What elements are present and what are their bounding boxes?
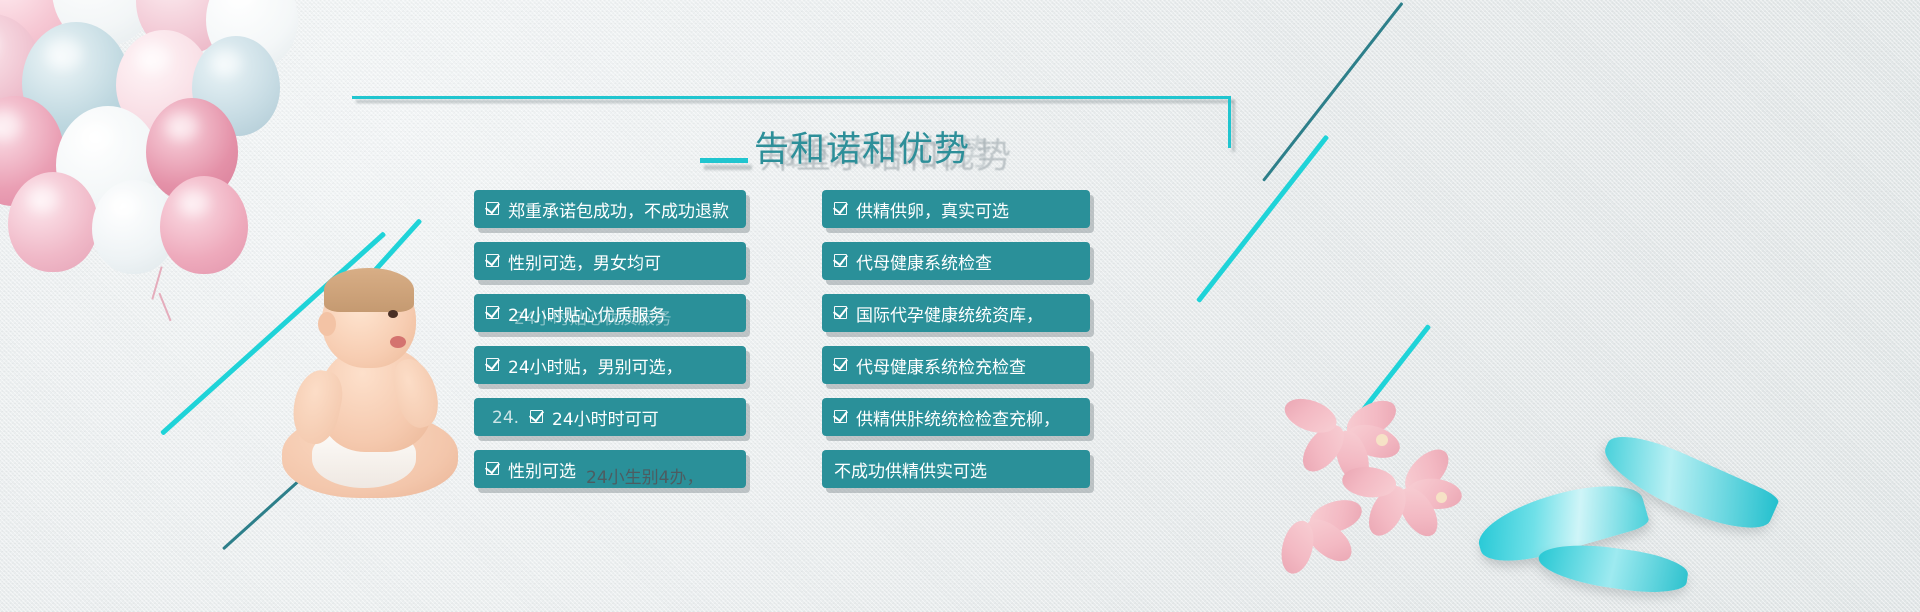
checkbox-checked-icon [834, 254, 849, 269]
banner-canvas: 郑重承诺和优势 诺和诺和优势 告和诺和优势 郑重承诺包成功，不成功退款 性别可选… [0, 0, 1920, 612]
benefit-label: 性别可选，男女均可 [508, 249, 661, 274]
benefits-column-right: 供精供卵，真实可选 代母健康系统检查 国际代孕健康统统资库， 代母健康系统检充检… [822, 190, 1090, 488]
benefit-label: 24小时时可可 [552, 405, 659, 430]
checkbox-checked-icon [486, 254, 501, 269]
benefit-item[interactable]: 24小时贴心优质服务 24小时贴心优质服务 [474, 294, 746, 332]
benefit-label: 国际代孕健康统统资库， [856, 301, 1043, 326]
benefit-label-ghost: 24. [492, 408, 519, 428]
benefit-label: 24小时贴心优质服务 [508, 301, 666, 326]
benefit-item[interactable]: 性别可选，男女均可 [474, 242, 746, 280]
benefit-item[interactable]: 性别可选 24小生别4办， [474, 450, 746, 488]
benefit-label: 供精供胩统统检检查充柳， [856, 405, 1060, 430]
checkbox-checked-icon [530, 410, 545, 425]
checkbox-checked-icon [486, 306, 501, 321]
benefit-label: 不成功供精供实可选 [834, 457, 987, 482]
benefit-item[interactable]: 24小时贴，男别可选， [474, 346, 746, 384]
benefit-label: 代母健康系统检充检查 [856, 353, 1026, 378]
benefit-item[interactable]: 代母健康系统检充检查 [822, 346, 1090, 384]
benefit-item[interactable]: 供精供胩统统检检查充柳， [822, 398, 1090, 436]
page-title: 郑重承诺和优势 诺和诺和优势 告和诺和优势 [700, 128, 970, 176]
benefit-label: 供精供卵，真实可选 [856, 197, 1009, 222]
benefit-item[interactable]: 24. 24小时时可可 [474, 398, 746, 436]
checkbox-checked-icon [834, 358, 849, 373]
checkbox-checked-icon [834, 306, 849, 321]
checkbox-checked-icon [834, 202, 849, 217]
title-main: 告和诺和优势 [754, 128, 970, 172]
benefit-label: 郑重承诺包成功，不成功退款 [508, 197, 729, 222]
benefit-item[interactable]: 供精供卵，真实可选 [822, 190, 1090, 228]
benefits-column-left: 郑重承诺包成功，不成功退款 性别可选，男女均可 24小时贴心优质服务 24小时贴… [474, 190, 746, 488]
checkbox-checked-icon [486, 462, 501, 477]
benefit-label: 性别可选 [508, 457, 576, 482]
checkbox-checked-icon [486, 202, 501, 217]
title-stack: 郑重承诺和优势 诺和诺和优势 告和诺和优势 [754, 128, 970, 176]
benefit-label: 代母健康系统检查 [856, 249, 992, 274]
title-dash-icon [700, 158, 748, 163]
benefit-item[interactable]: 不成功供精供实可选 [822, 450, 1090, 488]
benefit-label-ghost: 24小生别4办， [586, 463, 703, 488]
checkbox-checked-icon [486, 358, 501, 373]
benefits-columns: 郑重承诺包成功，不成功退款 性别可选，男女均可 24小时贴心优质服务 24小时贴… [0, 0, 1920, 612]
benefit-item[interactable]: 代母健康系统检查 [822, 242, 1090, 280]
checkbox-checked-icon [834, 410, 849, 425]
benefit-label: 24小时贴，男别可选， [508, 353, 683, 378]
benefit-item[interactable]: 国际代孕健康统统资库， [822, 294, 1090, 332]
benefit-item[interactable]: 郑重承诺包成功，不成功退款 [474, 190, 746, 228]
